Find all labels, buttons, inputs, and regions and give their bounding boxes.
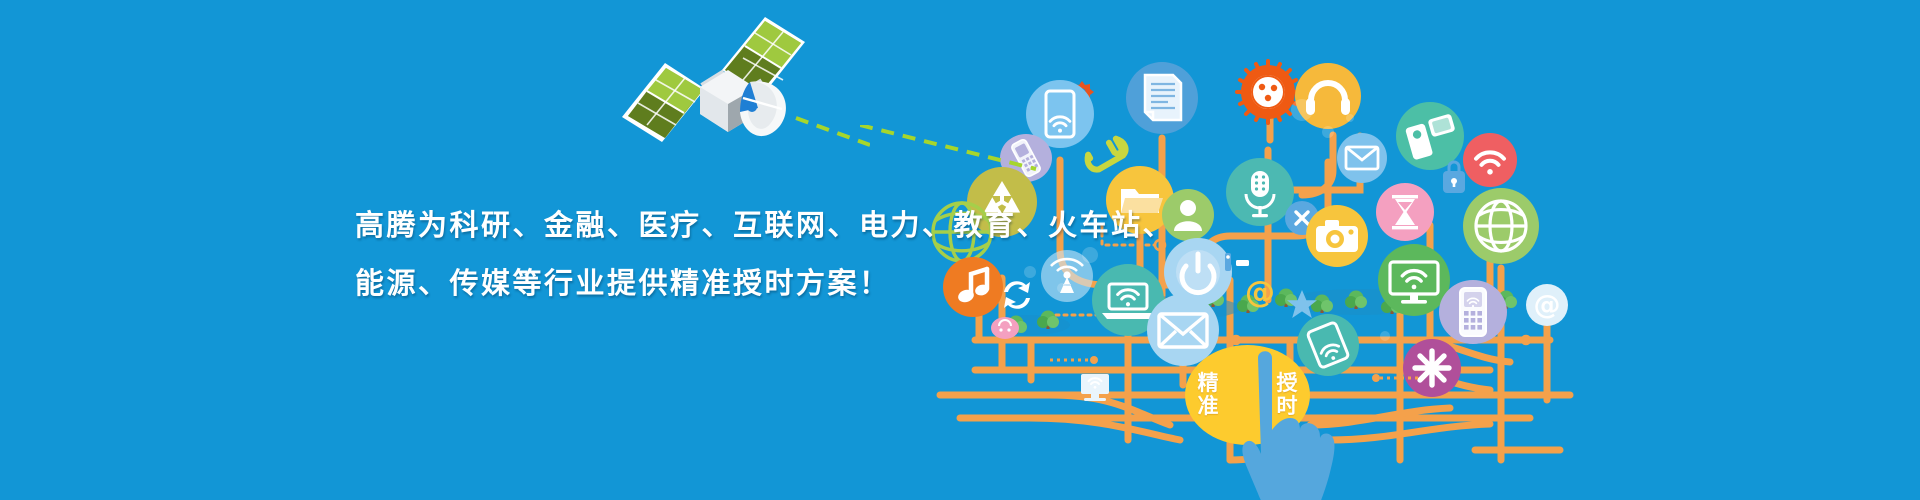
music-note-icon[interactable]	[943, 257, 1003, 317]
hand-icon	[1228, 338, 1348, 500]
envelope-icon[interactable]	[1337, 133, 1387, 183]
satellite-illustration	[600, 12, 870, 197]
microphone-icon[interactable]	[1226, 158, 1294, 226]
paperclip-icon[interactable]	[1084, 137, 1128, 173]
signal-beam-extension	[860, 125, 1060, 185]
hourglass-icon[interactable]	[1376, 183, 1434, 241]
svg-text:@: @	[1534, 290, 1561, 321]
lock-icon[interactable]	[1443, 162, 1465, 193]
mobile-keypad-icon[interactable]	[1439, 280, 1507, 344]
monitor-wifi-icon[interactable]	[1378, 244, 1450, 316]
satellite-icon	[600, 12, 870, 197]
pointing-hand	[1228, 338, 1348, 500]
svg-text:@: @	[1245, 275, 1275, 310]
user-icon[interactable]	[1162, 189, 1214, 241]
dish-antenna	[740, 81, 786, 136]
wifi-signal-icon[interactable]	[1463, 133, 1517, 187]
virus-gear-icon[interactable]	[1237, 61, 1299, 123]
hero-banner: 高腾为科研、金融、医疗、互联网、电力、教育、火车站、 能源、传媒等行业提供精准授…	[0, 0, 1920, 500]
cta-word-left: 精准	[1195, 372, 1221, 418]
solar-panel-lower	[622, 63, 705, 142]
at-sign-circle-icon[interactable]: @	[1526, 284, 1568, 326]
asterisk-icon[interactable]	[1403, 339, 1461, 397]
battery-icon[interactable]	[1225, 253, 1249, 271]
globe-grid-icon[interactable]	[1463, 188, 1539, 264]
globe-wire-icon[interactable]	[933, 203, 991, 261]
refresh-icon[interactable]	[1004, 281, 1030, 309]
pink-node-icon[interactable]	[991, 317, 1019, 339]
camera-icon[interactable]	[1306, 205, 1368, 267]
signal-beam	[796, 118, 870, 145]
tree-icon	[1037, 311, 1059, 330]
tablet-device-icon[interactable]	[1396, 102, 1464, 170]
at-sign-icon[interactable]: @	[1245, 275, 1275, 310]
document-icon[interactable]	[1126, 62, 1198, 134]
